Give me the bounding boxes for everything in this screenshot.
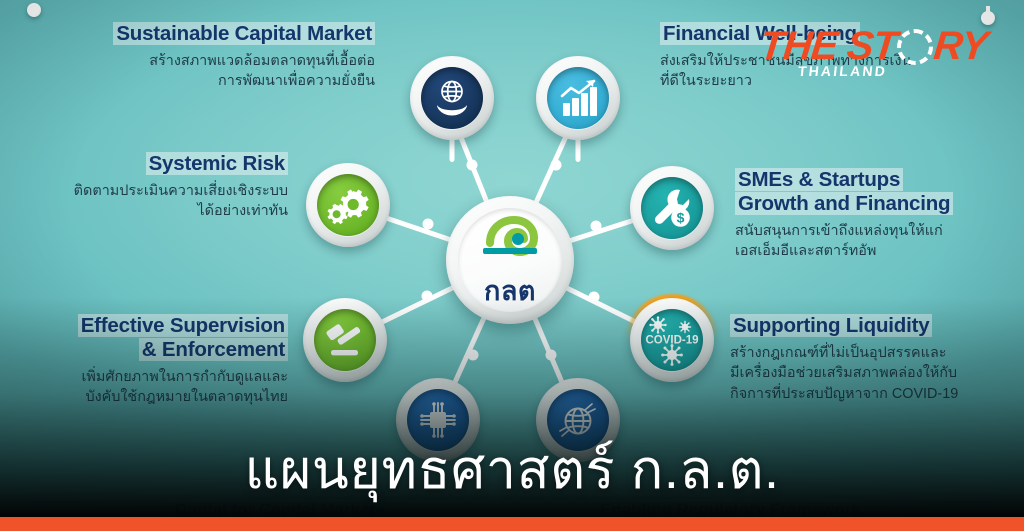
svg-text:$: $ bbox=[677, 210, 685, 226]
globe-in-hand-icon bbox=[430, 76, 474, 120]
infographic-canvas: กลต bbox=[0, 0, 1024, 531]
dashed-circle-icon bbox=[897, 29, 933, 65]
block-sustainable-capital-market: Sustainable Capital Market สร้างสภาพแวดล… bbox=[40, 22, 375, 92]
bottom-accent-bar bbox=[0, 517, 1024, 531]
covid-label: COVID-19 bbox=[645, 335, 698, 347]
body-effective-supervision: เพิ่มศักยภาพในการกำกับดูแลและ บังคับใช้ก… bbox=[16, 367, 288, 408]
gears-icon bbox=[325, 184, 371, 226]
wrench-dollar-icon: $ bbox=[649, 185, 695, 231]
microchip-icon bbox=[416, 398, 460, 442]
bar-chart-growth-icon bbox=[556, 77, 600, 119]
body-systemic-risk: ติดตามประเมินความเสี่ยงเชิงระบบ ได้อย่าง… bbox=[18, 181, 288, 222]
hub-sec-logo: กลต bbox=[446, 196, 574, 324]
sec-swirl-logo-icon bbox=[472, 209, 548, 271]
icon-node-smes-startups[interactable]: $ bbox=[630, 166, 714, 250]
heading-systemic-risk: Systemic Risk bbox=[18, 152, 288, 176]
watermark-the-story-thailand: THE ST RY THAILAND bbox=[760, 24, 987, 79]
icon-node-effective-supervision[interactable] bbox=[303, 298, 387, 382]
hub-logo-text: กลต bbox=[484, 269, 536, 312]
pin-dot-top-right-stem bbox=[986, 6, 990, 20]
icon-node-systemic-risk[interactable] bbox=[306, 163, 390, 247]
watermark-subtitle: THAILAND bbox=[797, 63, 988, 79]
gavel-icon bbox=[322, 318, 368, 362]
heading-effective-supervision: Effective Supervision & Enforcement bbox=[16, 314, 288, 362]
globe-network-icon bbox=[555, 397, 601, 443]
icon-node-financial-well-being[interactable] bbox=[536, 56, 620, 140]
icon-node-sustainable-capital-market[interactable] bbox=[410, 56, 494, 140]
page-title: แผนยุทธศาสตร์ ก.ล.ต. bbox=[0, 443, 1024, 497]
covid-19-icon: COVID-19 bbox=[643, 314, 701, 366]
block-smes-startups: SMEs & Startups Growth and Financing สนั… bbox=[735, 168, 1000, 261]
block-effective-supervision: Effective Supervision & Enforcement เพิ่… bbox=[16, 314, 288, 407]
block-supporting-liquidity: Supporting Liquidity สร้างกฎเกณฑ์ที่ไม่เ… bbox=[730, 314, 1015, 404]
body-sustainable-capital-market: สร้างสภาพแวดล้อมตลาดทุนที่เอื้อต่อ การพั… bbox=[40, 51, 375, 92]
heading-sustainable-capital-market: Sustainable Capital Market bbox=[40, 22, 375, 46]
block-systemic-risk: Systemic Risk ติดตามประเมินความเสี่ยงเชิ… bbox=[18, 152, 288, 222]
icon-node-supporting-liquidity[interactable]: COVID-19 bbox=[630, 298, 714, 382]
heading-smes-startups: SMEs & Startups Growth and Financing bbox=[735, 168, 1000, 216]
body-supporting-liquidity: สร้างกฎเกณฑ์ที่ไม่เป็นอุปสรรคและ มีเครื่… bbox=[730, 343, 1015, 404]
heading-supporting-liquidity: Supporting Liquidity bbox=[730, 314, 1015, 338]
body-smes-startups: สนับสนุนการเข้าถึงแหล่งทุนให้แก่ เอสเอ็ม… bbox=[735, 221, 1000, 262]
pin-dot-top-left-stem bbox=[33, 8, 36, 17]
